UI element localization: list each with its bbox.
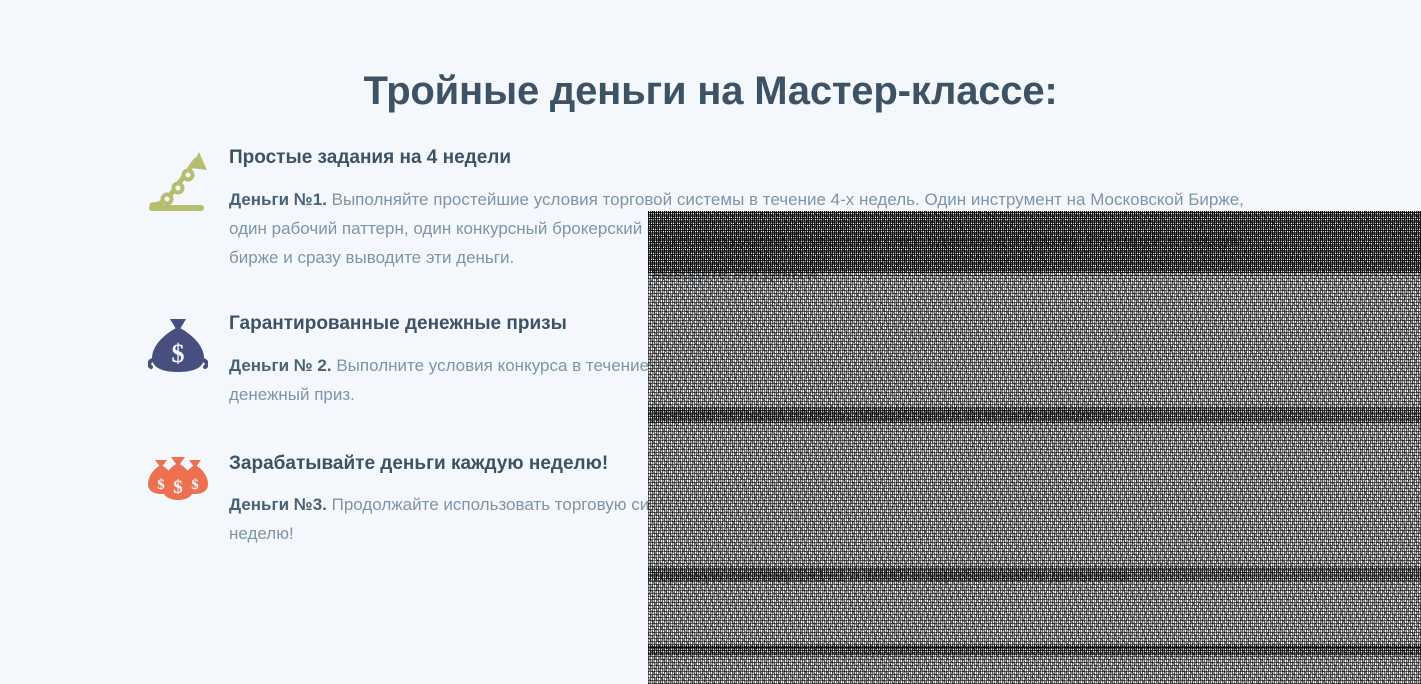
feature-lead-2: Деньги № 2. (229, 356, 332, 375)
feature-body-2: Гарантированные денежные призы Деньги № … (229, 312, 1269, 409)
feature-list: Простые задания на 4 недели Деньги №1. В… (0, 146, 1421, 582)
feature-body-1: Простые задания на 4 недели Деньги №1. В… (229, 146, 1269, 272)
page-title: Тройные деньги на Мастер-классе: (0, 69, 1421, 114)
feature-text-3: Деньги №3. Продолжайте использовать торг… (229, 490, 1269, 548)
feature-body-text-2: Выполните условия конкурса в течение чет… (229, 356, 1189, 404)
feature-title-1: Простые задания на 4 недели (229, 146, 1269, 171)
svg-text:$: $ (172, 339, 185, 368)
feature-body-3: Зарабатывайте деньги каждую неделю! День… (229, 452, 1269, 549)
svg-text:$: $ (157, 477, 165, 493)
feature-text-1: Деньги №1. Выполняйте простейшие условия… (229, 185, 1269, 273)
svg-text:$: $ (191, 477, 199, 493)
feature-text-2: Деньги № 2. Выполните условия конкурса в… (229, 351, 1269, 409)
feature-item-3: $ $ $ Зарабатывайте деньги каждую неделю… (0, 452, 1421, 549)
feature-body-text-1: Выполняйте простейшие условия торговой с… (229, 190, 1253, 267)
feature-lead-1: Деньги №1. (229, 190, 327, 209)
feature-item-2: $ Гарантированные денежные призы Деньги … (0, 312, 1421, 409)
feature-body-text-3: Продолжайте использовать торговую систем… (229, 495, 1248, 543)
money-bag-icon: $ (142, 312, 214, 374)
feature-item-1: Простые задания на 4 недели Деньги №1. В… (0, 146, 1421, 272)
growth-arrow-icon (142, 146, 214, 212)
feature-title-2: Гарантированные денежные призы (229, 312, 1269, 337)
three-money-bags-icon: $ $ $ (142, 452, 214, 504)
feature-lead-3: Деньги №3. (229, 495, 327, 514)
svg-text:$: $ (173, 477, 183, 498)
page-root: Тройные деньги на Мастер-классе: (0, 0, 1421, 684)
noise-band (648, 645, 1421, 655)
feature-title-3: Зарабатывайте деньги каждую неделю! (229, 452, 1269, 477)
noise-seam (648, 647, 1421, 648)
